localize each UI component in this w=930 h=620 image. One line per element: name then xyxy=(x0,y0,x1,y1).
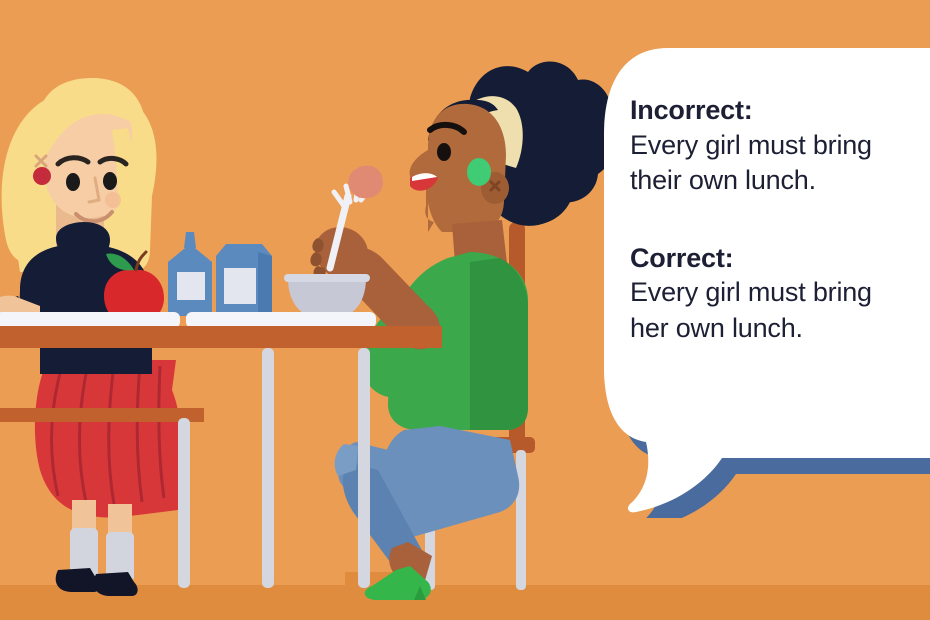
correct-line-2: her own lunch. xyxy=(630,311,930,347)
blonde-earring xyxy=(33,167,51,185)
table-leg-left xyxy=(178,418,190,588)
blonde-turtleneck xyxy=(56,222,110,260)
blonde-cheek xyxy=(105,192,121,208)
table-leg-mid xyxy=(262,348,274,588)
blonde-eye-left xyxy=(66,173,80,191)
incorrect-label: Incorrect: xyxy=(630,93,930,128)
correct-line-1: Every girl must bring xyxy=(630,275,930,311)
table-leg-right xyxy=(358,348,370,588)
table-shelf xyxy=(0,408,204,422)
table-top xyxy=(0,326,442,348)
milk-carton-small-spout xyxy=(184,232,196,248)
blonde-waistband xyxy=(40,344,152,374)
cereal-box-label xyxy=(224,268,256,304)
speech-bubble: Incorrect: Every girl must bring their o… xyxy=(590,38,930,518)
bowl-rim xyxy=(284,274,370,282)
tray-left xyxy=(0,312,180,328)
cereal-box-side xyxy=(258,252,272,318)
floor-base xyxy=(0,585,930,620)
blonde-eye-right xyxy=(103,172,117,190)
right-eye xyxy=(437,143,451,161)
milk-carton-small-label xyxy=(177,272,205,300)
right-sweater-shade xyxy=(470,258,528,430)
speech-bubble-text: Incorrect: Every girl must bring their o… xyxy=(630,93,930,347)
right-earring xyxy=(467,158,491,186)
text-gap xyxy=(630,199,930,241)
illustration-scene: Incorrect: Every girl must bring their o… xyxy=(0,0,930,620)
correct-label: Correct: xyxy=(630,241,930,276)
incorrect-line-2: their own lunch. xyxy=(630,163,930,199)
incorrect-line-1: Every girl must bring xyxy=(630,128,930,164)
tray-right xyxy=(186,312,376,328)
